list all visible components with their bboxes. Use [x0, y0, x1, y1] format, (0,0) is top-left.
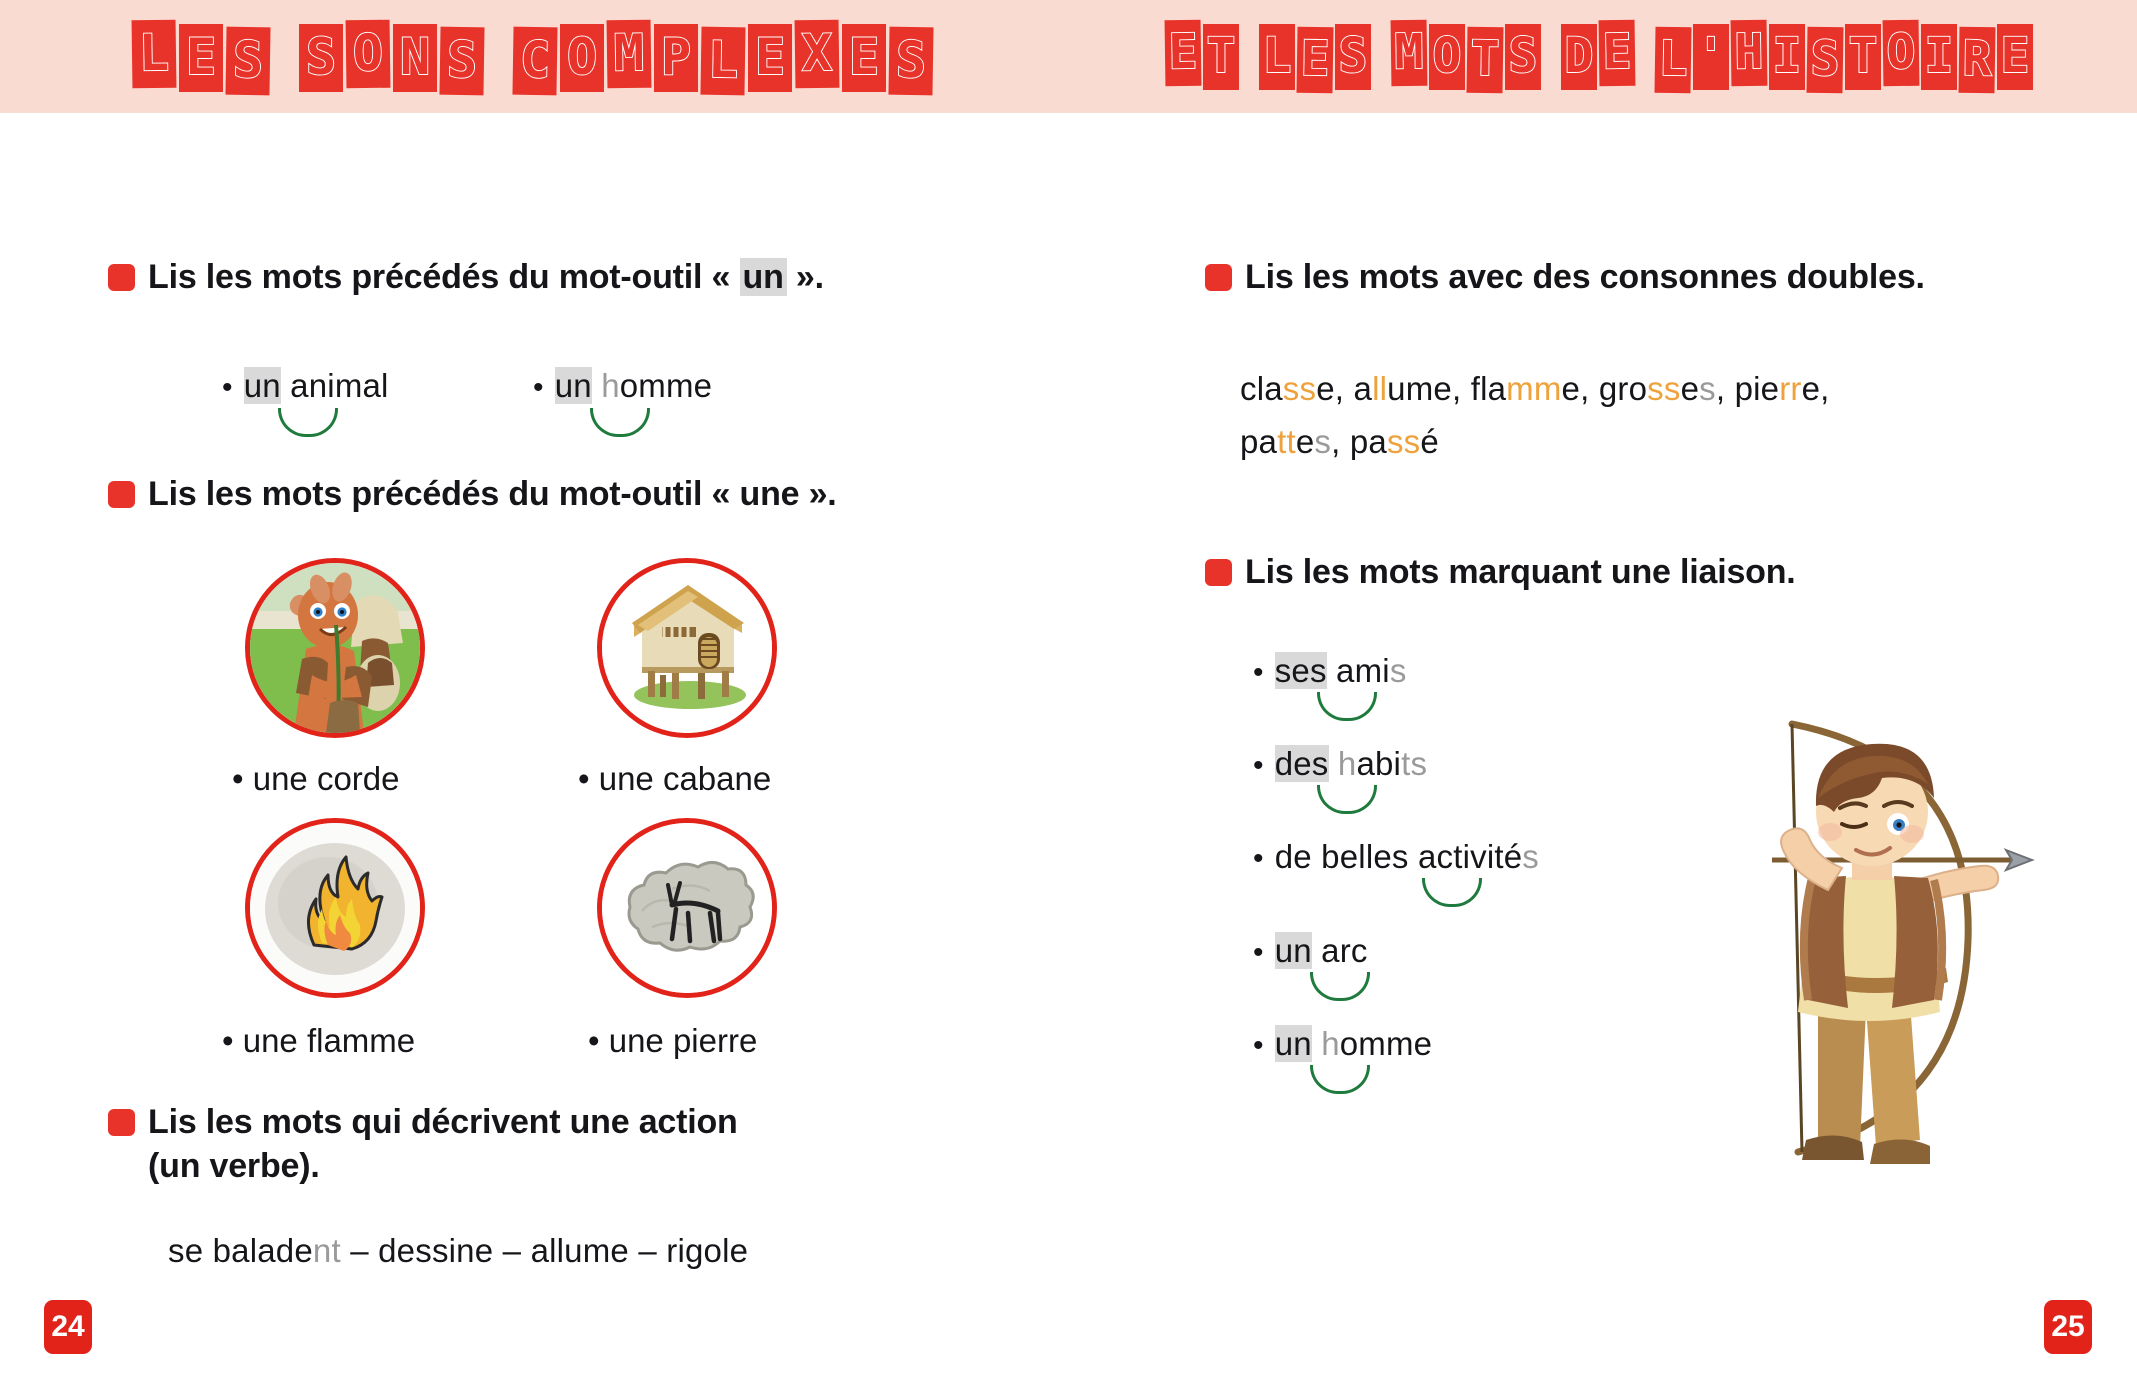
- page-number-right: 25: [2044, 1300, 2092, 1354]
- word-item-un-animal: •un animal: [222, 367, 389, 405]
- word-item-un-homme: •un homme: [533, 367, 712, 405]
- silent-letter-s: s: [1522, 838, 1539, 875]
- liaison-item-des-habits: •des habits: [1253, 745, 1427, 783]
- exercise-heading-1-left: Lis les mots précédés du mot-outil « un …: [108, 255, 824, 299]
- title-word: COMPLEXES: [513, 24, 936, 92]
- bullet-dot-icon: •: [1253, 936, 1264, 969]
- word-de-belles-activite: de belles activité: [1275, 838, 1523, 875]
- title-word: LES: [1259, 24, 1373, 90]
- highlight-un: un: [555, 367, 592, 404]
- verb-list-rest: – dessine – allume – rigole: [341, 1232, 748, 1269]
- liaison-item-un-homme: •un homme: [1253, 1025, 1432, 1063]
- word-ami: ami: [1327, 652, 1390, 689]
- silent-letters-nt: nt: [313, 1232, 341, 1269]
- picture-pierre[interactable]: [597, 818, 777, 998]
- silent-letters-ts: ts: [1401, 745, 1427, 782]
- red-square-bullet-icon: [1205, 559, 1232, 586]
- bullet-dot-icon: •: [222, 371, 233, 404]
- liaison-item-ses-amis: •ses amis: [1253, 652, 1407, 690]
- silent-letter-h: h: [1321, 1025, 1340, 1062]
- page-title-left: LES SONS COMPLEXES LES SONS COMPLEXES: [132, 24, 962, 92]
- caption-pierre: • une pierre: [588, 1022, 757, 1060]
- exercise-1-left-label: Lis les mots précédés du mot-outil « un …: [148, 255, 824, 299]
- title-word: SONS: [299, 24, 487, 92]
- highlight-ses: ses: [1275, 652, 1327, 689]
- bullet-dot-icon: •: [533, 371, 544, 404]
- exercise-heading-1-right: Lis les mots avec des consonnes doubles.: [1205, 255, 1925, 299]
- exercise-3-left-label: Lis les mots qui décrivent une action (u…: [148, 1100, 738, 1188]
- liaison-item-de-belles-activites: •de belles activités: [1253, 838, 1539, 876]
- liaison-arc-icon: [278, 408, 338, 437]
- word-animal: animal: [281, 367, 389, 404]
- highlight-des: des: [1275, 745, 1329, 782]
- liaison-item-un-arc: •un arc: [1253, 932, 1368, 970]
- verb-list: se baladent – dessine – allume – rigole: [168, 1232, 748, 1270]
- silent-letter-s: s: [1390, 652, 1407, 689]
- word-grosses: grosses: [1599, 370, 1716, 407]
- exercise-heading-3-left: Lis les mots qui décrivent une action (u…: [108, 1100, 738, 1188]
- title-word: DE: [1561, 24, 1637, 90]
- word-abi: abi: [1356, 745, 1401, 782]
- picture-cabane[interactable]: [597, 558, 777, 738]
- liaison-arc-icon: [1317, 785, 1377, 814]
- exercise-3-left-label-line2: (un verbe).: [148, 1144, 738, 1188]
- exercise-1-right-label: Lis les mots avec des consonnes doubles.: [1245, 255, 1925, 299]
- red-square-bullet-icon: [1205, 264, 1232, 291]
- red-square-bullet-icon: [108, 264, 135, 291]
- bullet-dot-icon: •: [1253, 842, 1264, 875]
- page-title-right: ET LES MOTS DE L'HISTOIRE ET LES MOTS DE…: [1165, 24, 2053, 90]
- title-word: ET: [1165, 24, 1241, 90]
- word-omme: omme: [1340, 1025, 1433, 1062]
- caption-flamme: • une flamme: [222, 1022, 415, 1060]
- word-passe: passé: [1350, 423, 1439, 460]
- bullet-dot-icon: •: [1253, 749, 1264, 782]
- picture-flamme[interactable]: [245, 818, 425, 998]
- picture-corde[interactable]: [245, 558, 425, 738]
- liaison-arc-icon: [1310, 1065, 1370, 1094]
- liaison-arc-icon: [1310, 972, 1370, 1001]
- exercise-1-left-label-highlight: un: [740, 258, 787, 296]
- archer-boy-illustration: [1706, 700, 2036, 1180]
- title-word: L'HISTOIRE: [1655, 24, 2035, 90]
- caption-cabane: • une cabane: [578, 760, 771, 798]
- word-arc: arc: [1312, 932, 1368, 969]
- highlight-un: un: [1275, 1025, 1312, 1062]
- exercise-2-left-label: Lis les mots précédés du mot-outil « une…: [148, 472, 837, 516]
- highlight-un: un: [244, 367, 281, 404]
- title-word: MOTS: [1391, 24, 1543, 90]
- double-consonant-words: classe, allume, flamme, grosses, pierre,…: [1240, 362, 1830, 469]
- exercise-1-left-label-after: ».: [787, 258, 824, 296]
- bullet-dot-icon: •: [1253, 656, 1264, 689]
- word-flamme: flamme: [1471, 370, 1580, 407]
- word-pierre: pierre: [1735, 370, 1821, 407]
- word-pattes: pattes: [1240, 423, 1331, 460]
- exercise-3-left-label-line1: Lis les mots qui décrivent une action: [148, 1100, 738, 1144]
- exercise-heading-2-right: Lis les mots marquant une liaison.: [1205, 550, 1796, 594]
- silent-letter-h: h: [601, 367, 620, 404]
- liaison-arc-icon: [1317, 692, 1377, 721]
- highlight-un: un: [1275, 932, 1312, 969]
- page-number-left: 24: [44, 1300, 92, 1354]
- word-allume: allume: [1354, 370, 1452, 407]
- caption-corde: • une corde: [232, 760, 400, 798]
- silent-letter-h: h: [1338, 745, 1357, 782]
- exercise-1-left-label-before: Lis les mots précédés du mot-outil «: [148, 258, 740, 296]
- workbook-spread: LES SONS COMPLEXES LES SONS COMPLEXES ET…: [0, 0, 2137, 1400]
- liaison-arc-icon: [1422, 878, 1482, 907]
- exercise-2-right-label: Lis les mots marquant une liaison.: [1245, 550, 1796, 594]
- word-classe: classe: [1240, 370, 1335, 407]
- liaison-arc-icon: [590, 408, 650, 437]
- red-square-bullet-icon: [108, 1109, 135, 1136]
- red-square-bullet-icon: [108, 481, 135, 508]
- title-word: LES: [132, 24, 273, 92]
- word-omme: omme: [620, 367, 713, 404]
- bullet-dot-icon: •: [1253, 1029, 1264, 1062]
- verb-se-balade: se balade: [168, 1232, 313, 1269]
- exercise-heading-2-left: Lis les mots précédés du mot-outil « une…: [108, 472, 837, 516]
